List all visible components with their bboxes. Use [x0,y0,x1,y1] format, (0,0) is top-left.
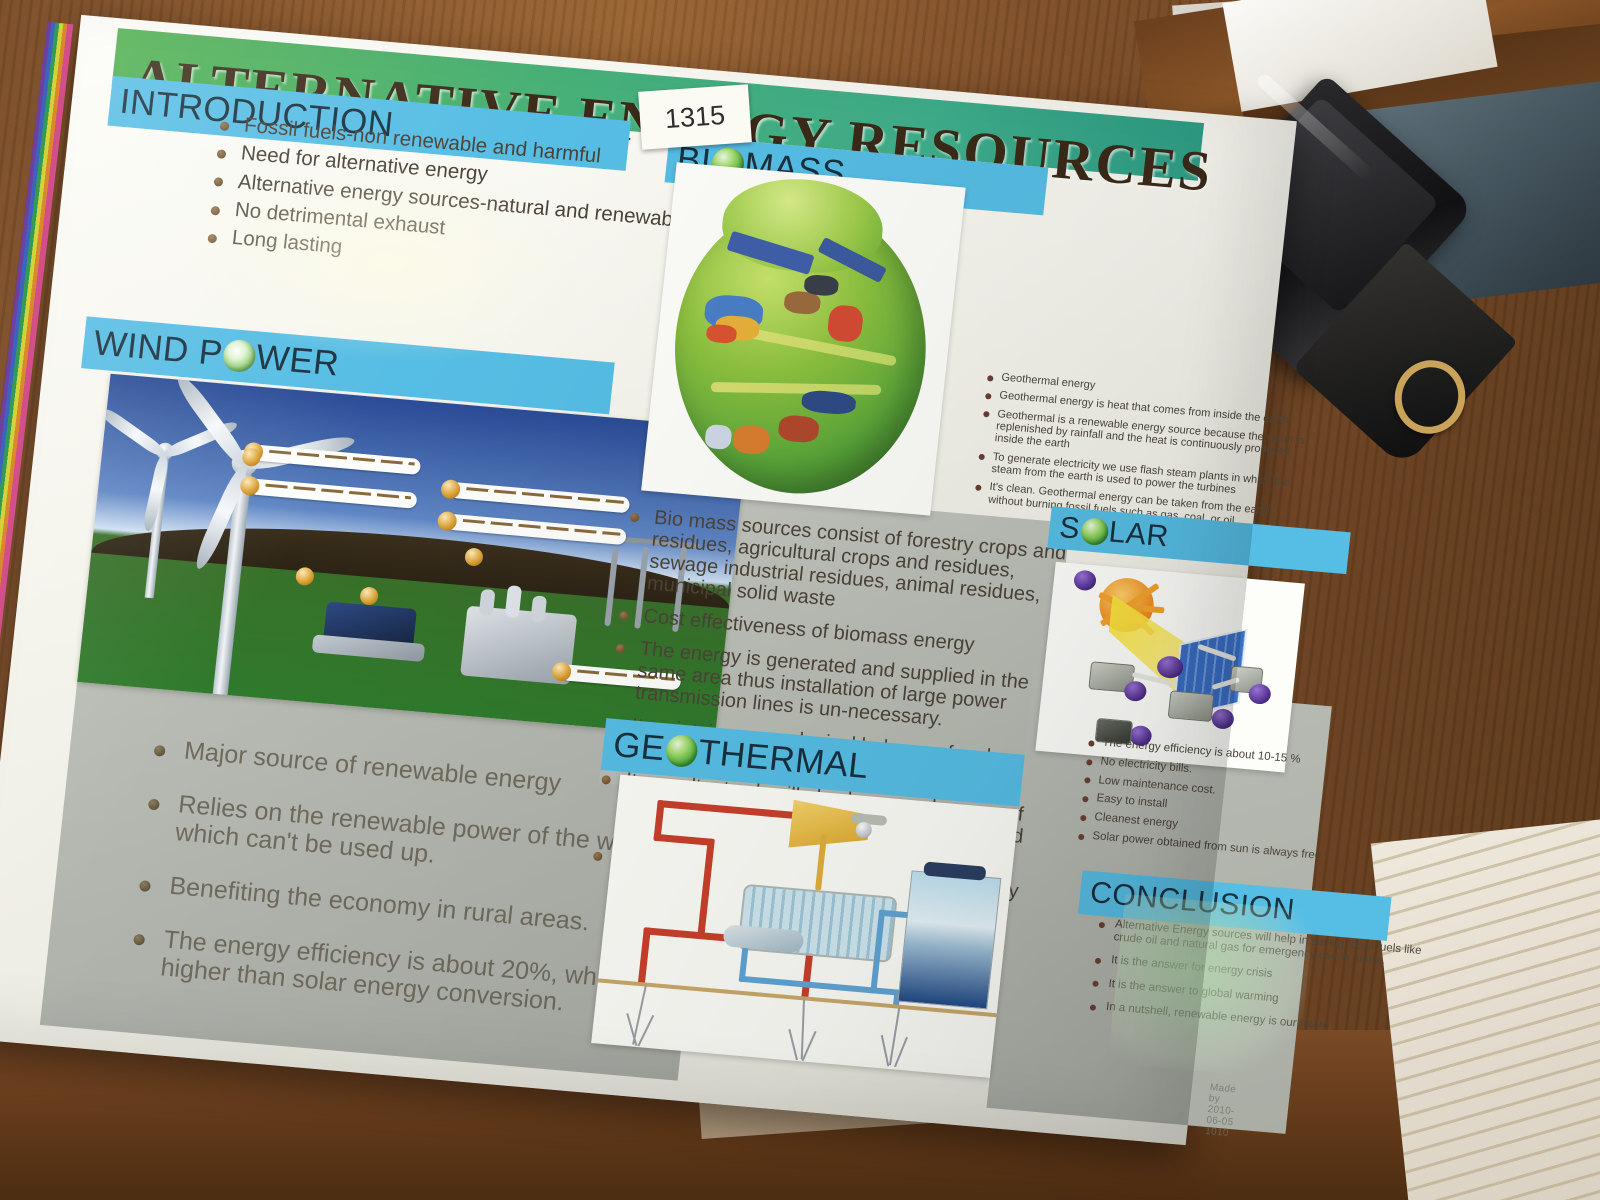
well-fracture [637,1015,654,1047]
poster-sheet-wrapper: ALTERNATIVE ENERGY RESOURCES INTRODUCTIO… [0,0,1340,1200]
well-fracture [881,1035,890,1067]
marker-bullet-icon [1073,569,1097,591]
marker-bullet-icon [1123,680,1147,702]
marker-bullet-icon [1211,708,1235,730]
hot-water-pipe [697,838,715,938]
well-fracture [802,1031,817,1061]
callout-number-icon [437,511,458,532]
conclusion-bullet-2: It is the answer to global warming [1108,978,1279,1005]
header-wind-power-label-post: WER [254,337,341,384]
globe-icon [664,734,699,768]
header-geothermal-label-post: THERMAL [696,732,870,787]
well-fracture [801,999,805,1059]
diagram-callout [248,478,417,509]
injection-pipe [638,927,651,985]
number-marker-icon [359,586,379,605]
conclusion-bullet-1: It is the answer for energy crisis [1110,955,1272,981]
well-fracture [788,1029,798,1060]
header-solar-label-post: LAR [1107,515,1170,554]
biomass-storage [704,424,732,450]
hot-water-pipe [657,800,807,820]
shelf-number-tab: 1315 [638,84,752,150]
diagram-callout [446,514,627,546]
callout-text-line [466,487,624,504]
shelf-number-label: 1315 [664,99,726,134]
geo-intro-bullet-0: Geothermal energy [1001,371,1096,391]
solar-bullet-4: Cleanest energy [1094,811,1179,830]
turbine-blade [172,374,251,471]
callout-number-icon [551,661,572,682]
poster-content: ALTERNATIVE ENERGY RESOURCES INTRODUCTIO… [0,25,1224,1109]
header-geothermal-label-pre: GE [611,725,667,769]
leaf-globe-icon [222,339,257,373]
screenshot-root: ALTERNATIVE ENERGY RESOURCES INTRODUCTIO… [0,0,1600,1200]
diagram-callout [449,482,630,514]
callout-text-line [463,519,621,536]
header-solar-label-pre: S [1058,511,1082,547]
well-fracture [894,1037,908,1068]
wind-bullet-3: The energy efficiency is about 20%, whic… [159,925,655,1016]
geothermal-plant-diagram [591,775,1019,1078]
callout-number-icon [440,479,461,500]
battery-box [1168,690,1215,722]
solar-bullet-1: No electricity bills. [1100,755,1193,775]
solar-system-illustration [1035,562,1305,773]
callout-text-line [269,450,415,466]
hot-water-pipe [653,834,714,846]
condenser-unit [737,884,898,963]
marker-bullet-icon [1248,683,1272,705]
solar-bullet-3: Easy to install [1096,793,1168,811]
callout-text-line [265,484,411,500]
globe-icon [1079,516,1109,545]
cooling-tower [897,870,1001,1009]
number-marker-icon [295,567,315,586]
biomass-processing [732,424,771,455]
wind-bullet-2: Benefiting the economy in rural areas. [168,872,591,937]
biomass-cycle-illustration [641,162,966,515]
turbine-blade [98,405,168,459]
intro-bullet-4: Long lasting [231,226,344,259]
wind-bullet-1: Relies on the renewable power of the win… [174,790,656,868]
header-wind-power-label-pre: WIND P [92,323,225,374]
callout-number-icon [239,475,260,496]
generator-rotor [855,821,873,838]
